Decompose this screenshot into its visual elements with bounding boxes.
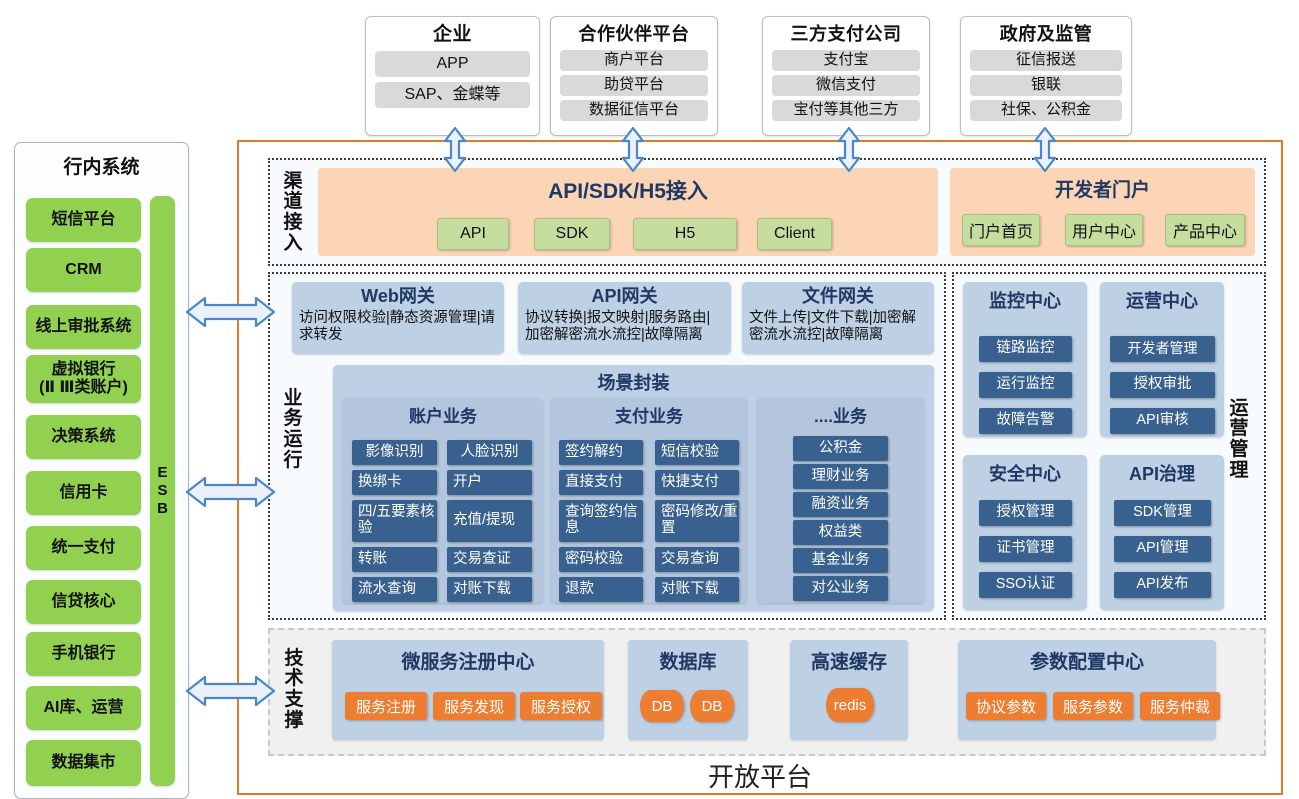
ops-chip-security[interactable]: SSO认证 xyxy=(979,572,1072,598)
ops-chip-api-governance[interactable]: API管理 xyxy=(1114,536,1211,562)
ops-chip-monitoring[interactable]: 链路监控 xyxy=(979,336,1072,362)
tech-card-microservice-registry: 微服务注册中心 xyxy=(332,640,604,740)
ops-card-title: API治理 xyxy=(1100,460,1224,486)
gateway-desc: 访问权限校验|静态资源管理|请求转发 xyxy=(299,310,497,345)
channel-chip-h5[interactable]: H5 xyxy=(633,218,737,250)
biz-chip-payment[interactable]: 交易查询 xyxy=(655,547,739,572)
ops-chip-operations[interactable]: 开发者管理 xyxy=(1110,336,1215,362)
gateway-desc: 文件上传|文件下载|加密解密流水流控|故障隔离 xyxy=(749,310,927,345)
in-bank-item-unified-payment[interactable]: 统一支付 xyxy=(26,526,141,570)
tech-chip-db-2[interactable]: DB xyxy=(690,690,734,722)
biz-chip-account[interactable]: 人脸识别 xyxy=(447,440,532,465)
in-bank-item-crm[interactable]: CRM xyxy=(26,248,141,292)
biz-chip-other[interactable]: 权益类 xyxy=(793,520,888,545)
tech-card-parameter-config-center: 参数配置中心 xyxy=(958,640,1216,740)
external-item: 宝付等其他三方 xyxy=(772,100,920,121)
external-item: 社保、公积金 xyxy=(970,100,1122,121)
biz-chip-account[interactable]: 流水查询 xyxy=(352,577,437,602)
external-box-title: 政府及监管 xyxy=(1000,23,1093,46)
external-box-title: 三方支付公司 xyxy=(791,23,902,46)
in-bank-item-sms[interactable]: 短信平台 xyxy=(26,198,141,242)
biz-chip-payment[interactable]: 短信校验 xyxy=(655,440,739,465)
biz-chip-account[interactable]: 换绑卡 xyxy=(352,470,437,495)
biz-chip-account[interactable]: 对账下载 xyxy=(447,577,532,602)
gateway-title: Web网关 xyxy=(299,286,497,308)
tech-chip-service-discovery[interactable]: 服务发现 xyxy=(433,692,515,720)
biz-chip-payment[interactable]: 密码校验 xyxy=(559,547,643,572)
biz-chip-other[interactable]: 融资业务 xyxy=(793,492,888,517)
in-bank-item-online-approval[interactable]: 线上审批系统 xyxy=(26,305,141,349)
api-sdk-h5-access-title: API/SDK/H5接入 xyxy=(318,175,938,205)
external-item: 微信支付 xyxy=(772,75,920,96)
business-column-title: 支付业务 xyxy=(551,402,747,427)
external-box-partner-platform: 合作伙伴平台 商户平台 助贷平台 数据征信平台 xyxy=(550,16,718,136)
tech-chip-service-arbitration[interactable]: 服务仲裁 xyxy=(1140,692,1220,720)
portal-chip-home[interactable]: 门户首页 xyxy=(962,214,1040,246)
gateway-title: API网关 xyxy=(525,286,724,308)
ops-chip-operations[interactable]: 授权审批 xyxy=(1110,372,1215,398)
external-item: 银联 xyxy=(970,75,1122,96)
in-bank-item-virtual-bank[interactable]: 虚拟银行 (Ⅱ Ⅲ类账户) xyxy=(26,355,141,403)
external-box-enterprise: 企业 APP SAP、金蝶等 xyxy=(365,16,540,136)
tech-card-title: 高速缓存 xyxy=(790,647,908,674)
tech-card-title: 数据库 xyxy=(628,647,748,674)
external-item: 商户平台 xyxy=(560,50,708,71)
channel-chip-api[interactable]: API xyxy=(437,218,509,250)
technical-support-vertical-label: 技术支撑 xyxy=(278,640,310,740)
tech-chip-db-1[interactable]: DB xyxy=(640,690,684,722)
biz-chip-payment[interactable]: 对账下载 xyxy=(655,577,739,602)
external-item: 征信报送 xyxy=(970,50,1122,71)
external-item: SAP、金蝶等 xyxy=(375,82,530,108)
biz-chip-payment[interactable]: 密码修改/重置 xyxy=(655,500,739,542)
biz-chip-payment[interactable]: 退款 xyxy=(559,577,643,602)
gateway-desc: 协议转换|报文映射|服务路由|加密解密流水流控|故障隔离 xyxy=(525,310,724,345)
in-bank-item-credit-card[interactable]: 信用卡 xyxy=(26,471,141,515)
external-box-title: 合作伙伴平台 xyxy=(579,23,690,46)
channel-access-vertical-label: 渠道接入 xyxy=(276,168,310,258)
in-bank-item-credit-core[interactable]: 信贷核心 xyxy=(26,580,141,624)
tech-card-title: 参数配置中心 xyxy=(958,647,1216,674)
developer-portal-title: 开发者门户 xyxy=(950,175,1255,202)
biz-chip-other[interactable]: 公积金 xyxy=(793,436,888,461)
architecture-diagram: 企业 APP SAP、金蝶等 合作伙伴平台 商户平台 助贷平台 数据征信平台 三… xyxy=(0,0,1299,799)
esb-label: ESB xyxy=(157,464,168,517)
tech-chip-service-register[interactable]: 服务注册 xyxy=(345,692,427,720)
gateway-title: 文件网关 xyxy=(749,286,927,308)
external-item: 助贷平台 xyxy=(560,75,708,96)
external-item: APP xyxy=(375,51,530,77)
tech-chip-redis[interactable]: redis xyxy=(826,688,874,722)
in-bank-item-mobile-bank[interactable]: 手机银行 xyxy=(26,632,141,676)
tech-chip-service-params[interactable]: 服务参数 xyxy=(1053,692,1133,720)
biz-chip-payment[interactable]: 签约解约 xyxy=(559,440,643,465)
gateway-card-file: 文件网关 文件上传|文件下载|加密解密流水流控|故障隔离 xyxy=(742,282,934,354)
business-column-title: 账户业务 xyxy=(343,402,543,427)
biz-chip-payment[interactable]: 快捷支付 xyxy=(655,470,739,495)
ops-card-title: 监控中心 xyxy=(963,287,1087,313)
tech-chip-protocol-params[interactable]: 协议参数 xyxy=(966,692,1046,720)
tech-card-title: 微服务注册中心 xyxy=(332,647,604,674)
page-title: 开放平台 xyxy=(237,757,1283,794)
ops-chip-api-governance[interactable]: SDK管理 xyxy=(1114,500,1211,526)
external-box-government-regulator: 政府及监管 征信报送 银联 社保、公积金 xyxy=(960,16,1132,136)
external-item: 支付宝 xyxy=(772,50,920,71)
business-runtime-vertical-label: 业务运行 xyxy=(276,382,310,478)
gateway-card-api: API网关 协议转换|报文映射|服务路由|加密解密流水流控|故障隔离 xyxy=(518,282,731,354)
biz-chip-account[interactable]: 四/五要素核验 xyxy=(352,500,437,542)
ops-chip-security[interactable]: 授权管理 xyxy=(979,500,1072,526)
biz-chip-other[interactable]: 基金业务 xyxy=(793,548,888,573)
in-bank-item-ai-ops[interactable]: AI库、运营 xyxy=(26,686,141,730)
biz-chip-other[interactable]: 对公业务 xyxy=(793,576,888,601)
ops-card-title: 安全中心 xyxy=(963,460,1087,486)
external-box-title: 企业 xyxy=(433,23,472,47)
tech-chip-service-authorize[interactable]: 服务授权 xyxy=(520,692,602,720)
channel-chip-client[interactable]: Client xyxy=(757,218,832,250)
ops-chip-security[interactable]: 证书管理 xyxy=(979,536,1072,562)
biz-chip-account[interactable]: 充值/提现 xyxy=(447,500,532,542)
in-bank-panel-title: 行内系统 xyxy=(15,152,188,179)
operations-management-vertical-label: 运营管理 xyxy=(1224,390,1254,490)
ops-chip-monitoring[interactable]: 运行监控 xyxy=(979,372,1072,398)
biz-chip-other[interactable]: 理财业务 xyxy=(793,464,888,489)
ops-chip-operations[interactable]: API审核 xyxy=(1110,408,1215,434)
biz-chip-payment[interactable]: 查询签约信息 xyxy=(559,500,643,542)
gateway-card-web: Web网关 访问权限校验|静态资源管理|请求转发 xyxy=(292,282,504,354)
biz-chip-account[interactable]: 交易查证 xyxy=(447,547,532,572)
portal-chip-product-center[interactable]: 产品中心 xyxy=(1165,214,1245,246)
external-box-third-party-payment: 三方支付公司 支付宝 微信支付 宝付等其他三方 xyxy=(762,16,930,136)
ops-card-title: 运营中心 xyxy=(1100,287,1224,313)
in-bank-item-data-mart[interactable]: 数据集市 xyxy=(26,740,141,786)
business-column-title: ....业务 xyxy=(757,402,924,427)
ops-chip-monitoring[interactable]: 故障告警 xyxy=(979,408,1072,434)
biz-chip-account[interactable]: 影像识别 xyxy=(352,440,437,465)
in-bank-item-decision[interactable]: 决策系统 xyxy=(26,415,141,459)
portal-chip-user-center[interactable]: 用户中心 xyxy=(1065,214,1143,246)
biz-chip-payment[interactable]: 直接支付 xyxy=(559,470,643,495)
api-sdk-h5-access-band: API/SDK/H5接入 xyxy=(318,168,938,256)
ops-chip-api-governance[interactable]: API发布 xyxy=(1114,572,1211,598)
esb-bus: ESB xyxy=(150,196,175,786)
channel-chip-sdk[interactable]: SDK xyxy=(534,218,610,250)
scene-encapsulation-title: 场景封装 xyxy=(333,369,934,395)
external-item: 数据征信平台 xyxy=(560,100,708,121)
biz-chip-account[interactable]: 转账 xyxy=(352,547,437,572)
biz-chip-account[interactable]: 开户 xyxy=(447,470,532,495)
